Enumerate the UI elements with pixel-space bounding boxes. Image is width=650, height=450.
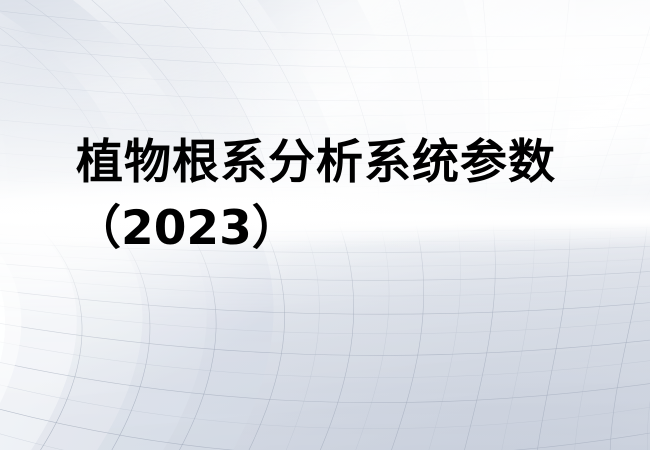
slide-title-primary: 植物根系分析系统参数 (0, 132, 650, 194)
slide-canvas: 植物根系分析系统参数 （2023） (0, 0, 650, 450)
title-block: 植物根系分析系统参数 （2023） (0, 132, 650, 258)
slide-title-year: （2023） (0, 194, 650, 258)
